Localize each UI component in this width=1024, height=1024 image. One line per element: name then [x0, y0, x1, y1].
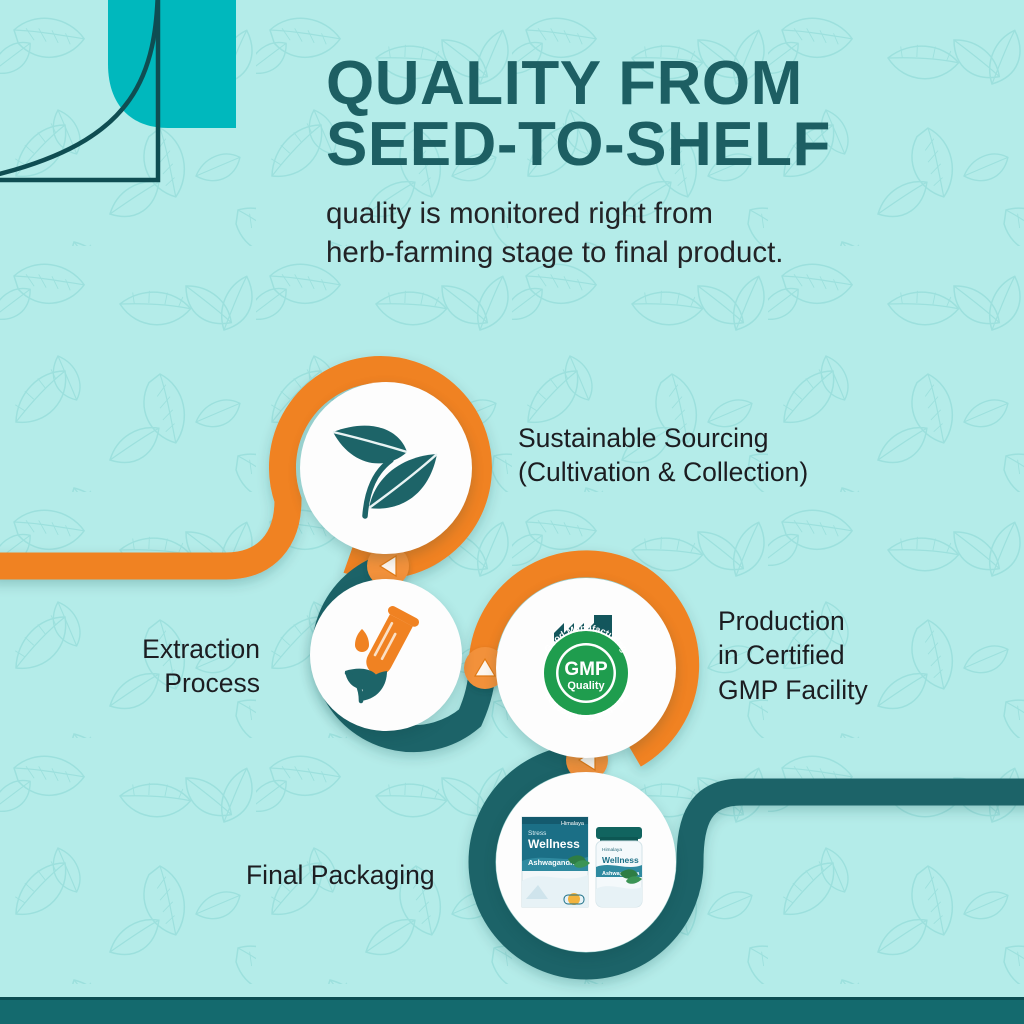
footer-bar — [0, 997, 1024, 1024]
product-box-and-bottle-icon: Himalaya Stress Wellness Ashwagandha — [482, 758, 690, 966]
step-label-gmp-production: Production in Certified GMP Facility — [718, 604, 868, 707]
leaf-logo-icon — [0, 0, 260, 210]
svg-text:Stress: Stress — [528, 830, 547, 837]
subhead-line-1: quality is monitored right from — [326, 194, 986, 233]
page-title: QUALITY FROM SEED-TO-SHELF — [326, 54, 986, 176]
headline-line-2: SEED-TO-SHELF — [326, 115, 986, 176]
step-node-extraction-process[interactable] — [298, 567, 474, 743]
svg-text:Himalaya: Himalaya — [602, 847, 622, 853]
brand-logo — [0, 0, 260, 210]
gmp-certification-badge-icon: GMP Quality Good Manufacturing Practice … — [482, 564, 690, 772]
test-tube-with-leaves-icon — [298, 567, 474, 743]
step-node-sustainable-sourcing[interactable] — [288, 370, 484, 566]
footer-bar-edge — [0, 997, 1024, 1000]
headline-line-1: QUALITY FROM — [326, 49, 803, 118]
step-label-extraction-process: Extraction Process — [60, 632, 260, 701]
svg-text:Wellness: Wellness — [602, 855, 639, 865]
svg-text:GMP: GMP — [564, 659, 608, 680]
two-leaves-icon — [288, 370, 484, 566]
svg-text:Wellness: Wellness — [528, 837, 580, 851]
infographic-canvas: QUALITY FROM SEED-TO-SHELF quality is mo… — [0, 0, 1024, 1024]
header-block: QUALITY FROM SEED-TO-SHELF quality is mo… — [326, 54, 986, 272]
step-node-final-packaging[interactable]: Himalaya Stress Wellness Ashwagandha — [482, 758, 690, 966]
step-label-sustainable-sourcing: Sustainable Sourcing (Cultivation & Coll… — [518, 421, 808, 490]
page-subtitle: quality is monitored right from herb-far… — [326, 194, 986, 272]
step-label-final-packaging: Final Packaging — [246, 858, 435, 892]
svg-text:Himalaya: Himalaya — [561, 821, 585, 827]
svg-text:Quality: Quality — [567, 680, 605, 692]
step-node-gmp-production[interactable]: GMP Quality Good Manufacturing Practice … — [482, 564, 690, 772]
subhead-line-2: herb-farming stage to final product. — [326, 233, 986, 272]
